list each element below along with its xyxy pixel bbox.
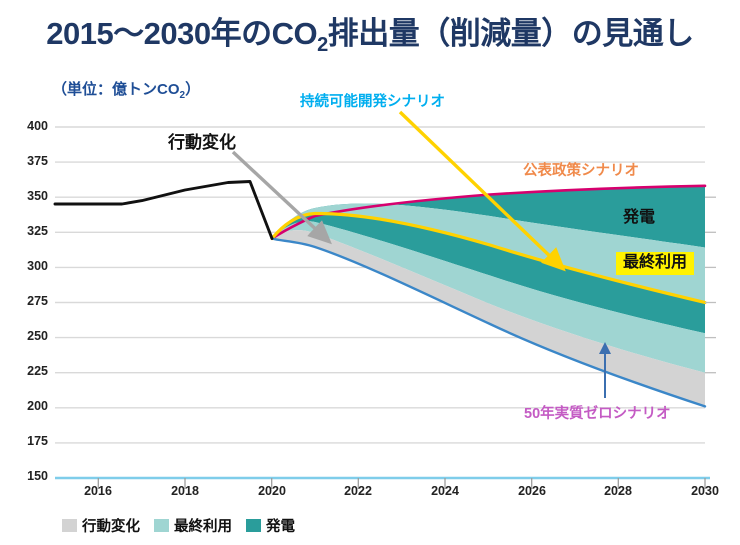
y-tick-250: 250 [8,329,48,343]
legend-item-behaviour-change: 行動変化 [62,515,140,536]
y-tick-350: 350 [8,189,48,203]
legend-swatch-icon [62,519,77,532]
historical-emissions-line [55,182,272,239]
behaviour-change-arrow [233,152,322,235]
x-tick-2020: 2020 [247,484,297,498]
annotation-stated-policies: 公表政策シナリオ [523,159,639,180]
x-tick-2018: 2018 [160,484,210,498]
y-axis-right-ticks [705,197,716,373]
annotation-net-zero-scenario: 50年実質ゼロシナリオ [524,402,671,423]
chart-page: 2015～2030年のCO2排出量（削減量）の見通し （単位：億トンCO2） [0,0,740,545]
x-tick-2022: 2022 [333,484,383,498]
x-tick-2030: 2030 [680,484,730,498]
annotation-behaviour-change: 行動変化 [168,128,236,153]
annotation-end-use: 最終利用 [616,252,694,275]
legend-item-power-generation: 発電 [246,515,295,536]
y-tick-300: 300 [8,259,48,273]
legend-label: 行動変化 [82,515,140,536]
y-tick-175: 175 [8,434,48,448]
legend-label: 発電 [266,515,295,536]
chart-legend: 行動変化 最終利用 発電 [62,515,295,536]
legend-label: 最終利用 [174,515,232,536]
x-tick-2016: 2016 [73,484,123,498]
y-tick-375: 375 [8,154,48,168]
annotation-sustainable-scenario: 持続可能開発シナリオ [300,90,445,111]
y-tick-400: 400 [8,119,48,133]
y-tick-275: 275 [8,294,48,308]
x-tick-2026: 2026 [507,484,557,498]
y-tick-200: 200 [8,399,48,413]
y-tick-225: 225 [8,364,48,378]
y-tick-150: 150 [8,469,48,483]
legend-swatch-icon [246,519,261,532]
x-tick-2024: 2024 [420,484,470,498]
legend-swatch-icon [154,519,169,532]
y-tick-325: 325 [8,224,48,238]
x-tick-2028: 2028 [593,484,643,498]
legend-item-end-use: 最終利用 [154,515,232,536]
annotation-power-generation: 発電 [623,203,655,227]
